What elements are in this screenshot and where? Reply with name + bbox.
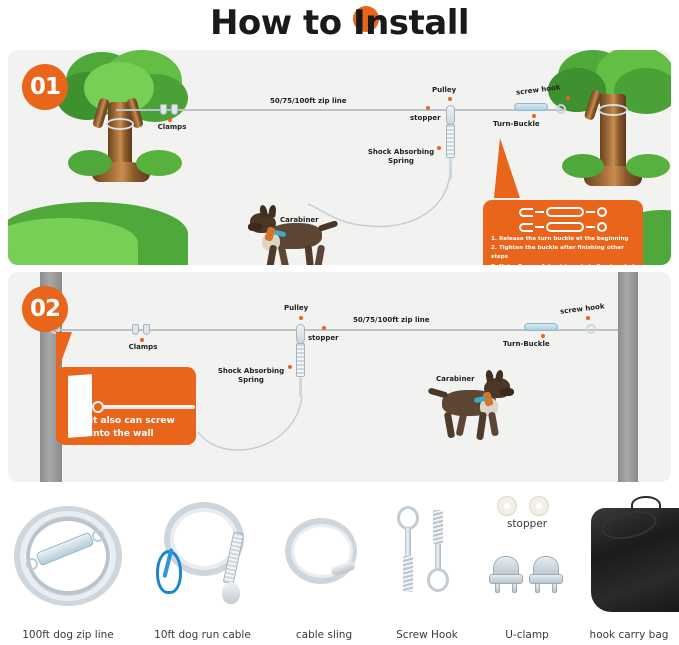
dog-ear [259, 204, 268, 217]
cable-end-fitting [222, 582, 240, 604]
cable-wrap [598, 104, 628, 116]
screw-thread [403, 556, 413, 592]
label-stopper: stopper [308, 334, 339, 343]
eye-ring-icon [26, 558, 38, 570]
product-label: Screw Hook [396, 629, 458, 645]
marker-dot [566, 96, 570, 100]
eye-icon [597, 207, 607, 217]
product-art: stopper [475, 490, 579, 629]
product-run-cable: 10ft dog run cable [136, 490, 269, 645]
product-zip-line: 100ft dog zip line [0, 490, 136, 645]
shrub [626, 154, 670, 178]
stopper-icon [497, 496, 517, 516]
connector-bar [586, 211, 595, 213]
label-clamps: Clamps [152, 123, 192, 132]
marker-dot [140, 338, 144, 342]
clamp-icon [171, 104, 178, 115]
label-shock-spring: Shock Absorbing Spring [364, 148, 438, 166]
dog-snout [248, 223, 262, 231]
marker-dot [532, 114, 536, 118]
turn-buckle-icon [524, 323, 558, 331]
note-line: 3. Note: Be careful not to get zip line … [491, 263, 636, 265]
wall-plate-illustration [68, 374, 92, 438]
callout-tail [494, 138, 520, 198]
product-stopper-uclamp: stopper U-clamp [475, 490, 579, 645]
product-art [136, 490, 269, 629]
product-carry-bag: hook carry bag [579, 490, 679, 645]
label-carabiner: Carabiner [436, 375, 475, 384]
wall-post-right [618, 272, 638, 482]
marker-dot [168, 118, 172, 122]
label-zipline: 50/75/100ft zip line [270, 97, 347, 106]
label-zipline: 50/75/100ft zip line [353, 316, 430, 325]
clamp-icon [160, 104, 167, 115]
shrub [68, 150, 112, 176]
u-clamp-saddle [489, 574, 523, 584]
clamp-icon [143, 324, 150, 335]
label-screw-hook: screw hook [560, 302, 605, 316]
shock-absorbing-spring-icon [446, 124, 455, 158]
note-line: 1. Release the turn buckle at the beginn… [491, 235, 636, 244]
label-shock-spring: Shock Absorbing Spring [213, 367, 289, 385]
turn-buckle-icon [514, 103, 548, 111]
marker-dot [448, 97, 452, 101]
title-text: How to Install [210, 3, 469, 43]
u-clamp-saddle [529, 574, 563, 584]
wall-callout-text: it also can screw into the wall [90, 415, 175, 441]
marker-dot [426, 106, 430, 110]
u-clamp-bolt [495, 583, 500, 593]
screw-hook-icon [586, 324, 596, 334]
cable-wrap [106, 118, 134, 130]
dog-leg [476, 412, 487, 441]
eye-icon [597, 222, 607, 232]
turnbuckle-note-callout: 1. Release the turn buckle at the beginn… [483, 200, 643, 265]
turnbuckle-diagram [483, 200, 643, 235]
screw-hook-eye [427, 568, 449, 592]
u-clamp-bolt [552, 583, 557, 593]
product-label: stopper [475, 518, 579, 534]
eye-bolt-shaft [103, 405, 195, 409]
turnbuckle-notes: 1. Release the turn buckle at the beginn… [483, 235, 643, 265]
screw-hook-icon [556, 104, 566, 114]
pulley-icon [296, 324, 305, 344]
stopper-icon [529, 496, 549, 516]
marker-dot [541, 334, 545, 338]
page-title: How to Install [0, 0, 679, 46]
pulley-icon [446, 105, 455, 125]
barrel-icon [546, 207, 584, 217]
product-label: 100ft dog zip line [22, 629, 113, 645]
leash-cable [198, 390, 313, 468]
label-carabiner: Carabiner [280, 216, 319, 225]
label-pulley: Pulley [432, 86, 456, 95]
step-badge-02: 02 [22, 286, 68, 332]
shock-absorbing-spring-icon [296, 343, 305, 377]
install-step-panel-02: 02 Clamps Pulley stopper 50/75/100ft zip… [8, 272, 671, 482]
u-clamp-bolt [512, 583, 517, 593]
fork-icon [519, 223, 533, 232]
dog-leg [314, 245, 325, 265]
screw-hook-eye [397, 506, 419, 530]
clamp-icon [132, 324, 139, 335]
product-lineup: 100ft dog zip line 10ft dog run cable ca… [0, 490, 679, 645]
eye-ring-icon [92, 530, 104, 542]
install-step-panel-01: 01 Clamps 50/75/100ft zi [8, 50, 671, 265]
product-label: cable sling [296, 629, 352, 645]
marker-dot [299, 316, 303, 320]
tree-right [548, 50, 671, 215]
label-turnbuckle: Turn-Buckle [493, 120, 540, 129]
label-clamps: Clamps [123, 343, 163, 352]
zip-line-cable [116, 109, 566, 111]
turnbuckle-diagram-row [519, 207, 607, 217]
product-cable-sling: cable sling [269, 490, 379, 645]
step-badge-01: 01 [22, 64, 68, 110]
barrel-icon [546, 222, 584, 232]
note-line: 2. Tighten the buckle after finishing ot… [491, 244, 636, 262]
dog-snout [500, 388, 514, 396]
connector-bar [586, 226, 595, 228]
marker-dot [322, 326, 326, 330]
product-screw-hook: Screw Hook [379, 490, 475, 645]
fork-icon [519, 208, 533, 217]
dog-leg [488, 412, 499, 437]
product-art [269, 490, 379, 629]
label-stopper: stopper [410, 114, 441, 123]
dog-ear [485, 369, 494, 382]
product-label: U-clamp [505, 629, 549, 645]
wall-mount-callout: it also can screw into the wall [56, 367, 196, 445]
dog-leg [305, 245, 315, 265]
label-pulley: Pulley [284, 304, 308, 313]
dog-leg [444, 412, 455, 439]
dog-illustration [248, 205, 340, 265]
connector-bar [535, 226, 544, 228]
turnbuckle-diagram-row [519, 222, 607, 232]
product-label: 10ft dog run cable [154, 629, 251, 645]
connector-bar [535, 211, 544, 213]
screw-thread [433, 510, 443, 544]
shrub [136, 150, 182, 176]
dog-tail [428, 387, 449, 398]
shrub [562, 154, 604, 178]
product-art [0, 490, 136, 629]
product-label: hook carry bag [590, 629, 669, 645]
u-clamp-bolt [535, 583, 540, 593]
dog-ear [268, 205, 277, 218]
marker-dot [586, 316, 590, 320]
label-turnbuckle: Turn-Buckle [503, 340, 550, 349]
product-art [379, 490, 475, 629]
product-art [579, 490, 679, 629]
dog-tail [318, 220, 339, 232]
